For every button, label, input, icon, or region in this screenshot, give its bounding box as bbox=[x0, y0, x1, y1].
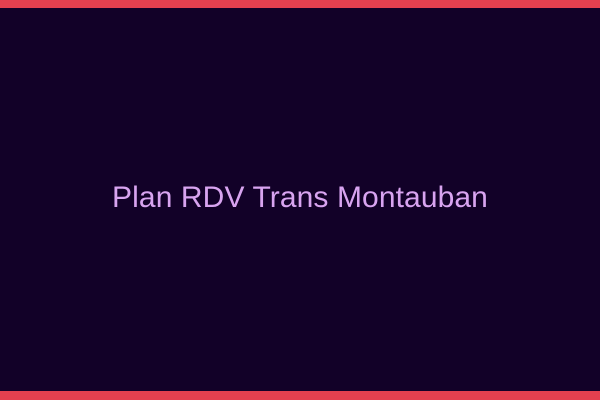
page-title: Plan RDV Trans Montauban bbox=[96, 181, 504, 216]
placeholder-page: Plan RDV Trans Montauban bbox=[0, 0, 600, 400]
top-accent-bar bbox=[0, 0, 600, 8]
content-area: Plan RDV Trans Montauban bbox=[0, 8, 600, 391]
bottom-accent-bar bbox=[0, 391, 600, 400]
